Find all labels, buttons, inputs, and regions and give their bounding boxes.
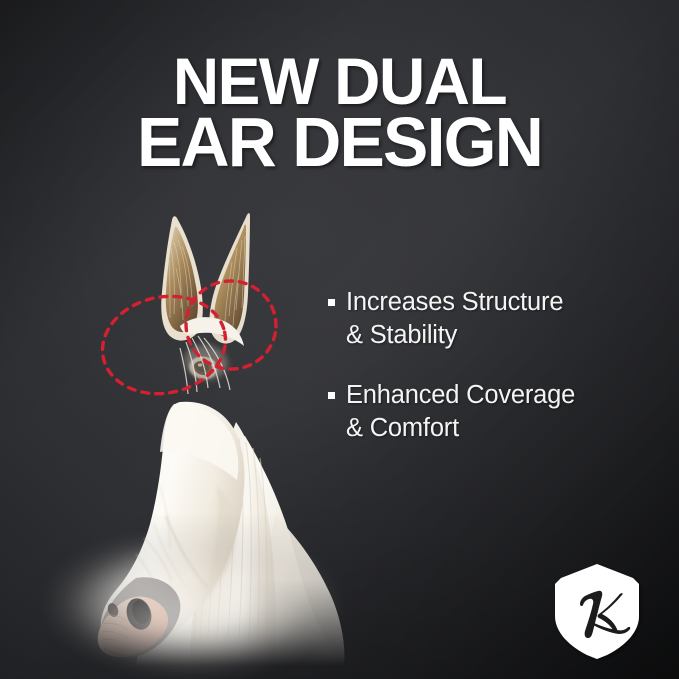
brand-badge xyxy=(551,562,643,660)
shield-logo-icon xyxy=(551,562,643,660)
bullet-line-2: & Comfort xyxy=(346,414,459,442)
promo-graphic: NEW DUAL EAR DESIGN xyxy=(0,0,679,679)
bullet-line-2: & Stability xyxy=(346,321,457,349)
feature-bullet-list: Increases Structure & Stability Enhanced… xyxy=(328,286,648,445)
headline-line-2: EAR DESIGN xyxy=(10,112,669,173)
bullet-line-1: Increases Structure xyxy=(346,288,563,316)
bullet-line-1: Enhanced Coverage xyxy=(346,381,575,409)
bullet-item: Increases Structure & Stability xyxy=(328,286,648,352)
bullet-text: Increases Structure & Stability xyxy=(346,286,563,352)
bullet-item: Enhanced Coverage & Comfort xyxy=(328,379,648,445)
square-bullet-icon xyxy=(328,392,335,399)
headline-block: NEW DUAL EAR DESIGN xyxy=(0,51,679,173)
square-bullet-icon xyxy=(328,299,335,306)
bullet-text: Enhanced Coverage & Comfort xyxy=(346,379,575,445)
